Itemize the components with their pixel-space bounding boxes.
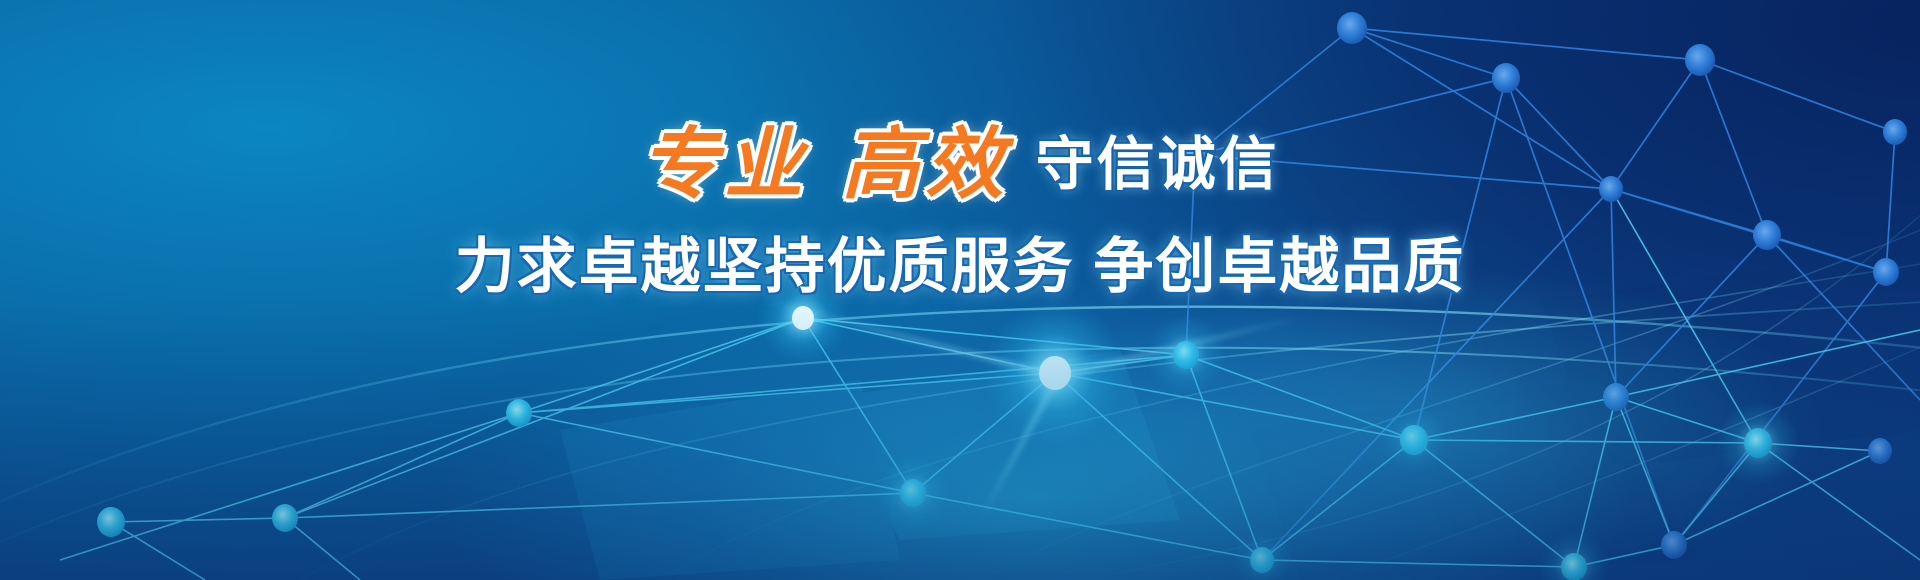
background-bottom-shade <box>0 0 1920 580</box>
hero-banner: 专业 高效守信诚信 力求卓越坚持优质服务 争创卓越品质 <box>0 0 1920 580</box>
